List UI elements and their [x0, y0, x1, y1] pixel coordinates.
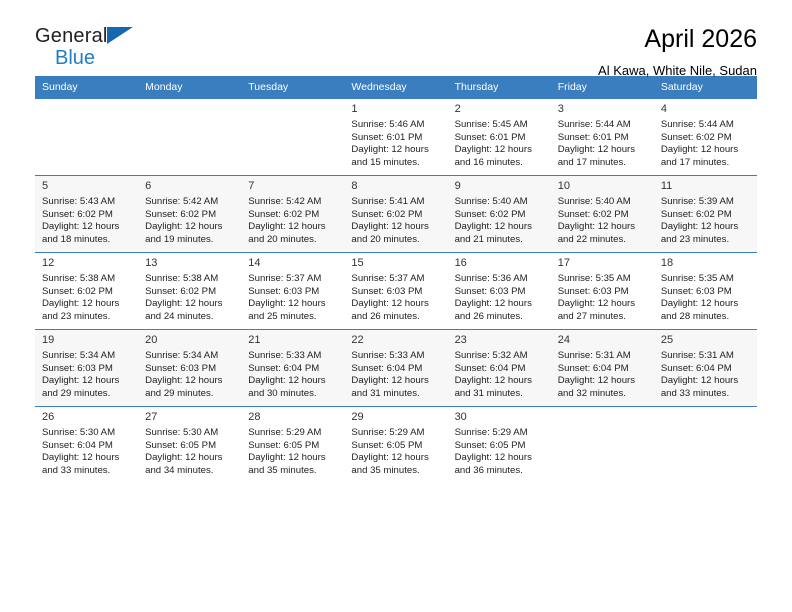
- day-cell-inner: 23Sunrise: 5:32 AMSunset: 6:04 PMDayligh…: [448, 330, 551, 406]
- day-daylight1-text: Daylight: 12 hours: [661, 144, 750, 157]
- day-daylight2-text: and 26 minutes.: [455, 311, 544, 324]
- day-cell-inner: 24Sunrise: 5:31 AMSunset: 6:04 PMDayligh…: [551, 330, 654, 406]
- day-cell-inner: 8Sunrise: 5:41 AMSunset: 6:02 PMDaylight…: [344, 176, 447, 252]
- day-sunset-text: Sunset: 6:04 PM: [351, 363, 440, 376]
- day-number: 3: [558, 103, 647, 116]
- day-daylight2-text: and 25 minutes.: [248, 311, 337, 324]
- day-detail: Sunrise: 5:38 AMSunset: 6:02 PMDaylight:…: [42, 273, 131, 323]
- day-sunset-text: Sunset: 6:03 PM: [351, 286, 440, 299]
- day-detail: Sunrise: 5:31 AMSunset: 6:04 PMDaylight:…: [661, 350, 750, 400]
- calendar-day-cell[interactable]: 3Sunrise: 5:44 AMSunset: 6:01 PMDaylight…: [551, 99, 654, 176]
- day-number: 28: [248, 411, 337, 424]
- day-sunset-text: Sunset: 6:01 PM: [558, 132, 647, 145]
- day-detail: Sunrise: 5:33 AMSunset: 6:04 PMDaylight:…: [351, 350, 440, 400]
- day-daylight1-text: Daylight: 12 hours: [351, 298, 440, 311]
- day-sunset-text: Sunset: 6:04 PM: [248, 363, 337, 376]
- day-sunset-text: Sunset: 6:02 PM: [455, 209, 544, 222]
- day-daylight2-text: and 16 minutes.: [455, 157, 544, 170]
- day-detail: Sunrise: 5:42 AMSunset: 6:02 PMDaylight:…: [145, 196, 234, 246]
- day-sunset-text: Sunset: 6:05 PM: [351, 440, 440, 453]
- day-detail: Sunrise: 5:29 AMSunset: 6:05 PMDaylight:…: [455, 427, 544, 477]
- day-number: 1: [351, 103, 440, 116]
- day-sunset-text: Sunset: 6:02 PM: [42, 209, 131, 222]
- calendar-page: General Blue April 2026 Al Kawa, White N…: [0, 0, 792, 612]
- day-sunset-text: Sunset: 6:02 PM: [145, 286, 234, 299]
- calendar-day-cell[interactable]: 30Sunrise: 5:29 AMSunset: 6:05 PMDayligh…: [448, 407, 551, 484]
- day-cell-inner: 9Sunrise: 5:40 AMSunset: 6:02 PMDaylight…: [448, 176, 551, 252]
- calendar-day-cell[interactable]: 9Sunrise: 5:40 AMSunset: 6:02 PMDaylight…: [448, 176, 551, 253]
- day-sunrise-text: Sunrise: 5:36 AM: [455, 273, 544, 286]
- day-detail: Sunrise: 5:37 AMSunset: 6:03 PMDaylight:…: [248, 273, 337, 323]
- day-daylight2-text: and 17 minutes.: [558, 157, 647, 170]
- day-sunset-text: Sunset: 6:04 PM: [558, 363, 647, 376]
- day-daylight2-text: and 20 minutes.: [248, 234, 337, 247]
- day-daylight1-text: Daylight: 12 hours: [455, 375, 544, 388]
- day-daylight2-text: and 31 minutes.: [455, 388, 544, 401]
- day-cell-inner: 18Sunrise: 5:35 AMSunset: 6:03 PMDayligh…: [654, 253, 757, 329]
- day-number: 9: [455, 180, 544, 193]
- day-number: 21: [248, 334, 337, 347]
- day-sunrise-text: Sunrise: 5:34 AM: [145, 350, 234, 363]
- day-daylight1-text: Daylight: 12 hours: [455, 144, 544, 157]
- day-detail: Sunrise: 5:38 AMSunset: 6:02 PMDaylight:…: [145, 273, 234, 323]
- day-daylight2-text: and 35 minutes.: [248, 465, 337, 478]
- day-detail: Sunrise: 5:35 AMSunset: 6:03 PMDaylight:…: [661, 273, 750, 323]
- day-daylight1-text: Daylight: 12 hours: [42, 298, 131, 311]
- day-detail: Sunrise: 5:30 AMSunset: 6:04 PMDaylight:…: [42, 427, 131, 477]
- day-detail: Sunrise: 5:33 AMSunset: 6:04 PMDaylight:…: [248, 350, 337, 400]
- day-sunrise-text: Sunrise: 5:42 AM: [248, 196, 337, 209]
- day-cell-inner: 26Sunrise: 5:30 AMSunset: 6:04 PMDayligh…: [35, 407, 138, 483]
- day-number: 18: [661, 257, 750, 270]
- day-daylight1-text: Daylight: 12 hours: [42, 452, 131, 465]
- calendar-week-row: 26Sunrise: 5:30 AMSunset: 6:04 PMDayligh…: [35, 407, 757, 484]
- day-cell-inner: 17Sunrise: 5:35 AMSunset: 6:03 PMDayligh…: [551, 253, 654, 329]
- day-number: 15: [351, 257, 440, 270]
- day-sunset-text: Sunset: 6:02 PM: [145, 209, 234, 222]
- day-sunset-text: Sunset: 6:04 PM: [42, 440, 131, 453]
- day-cell-inner: 1Sunrise: 5:46 AMSunset: 6:01 PMDaylight…: [344, 99, 447, 175]
- day-sunset-text: Sunset: 6:02 PM: [661, 209, 750, 222]
- day-cell-inner: 25Sunrise: 5:31 AMSunset: 6:04 PMDayligh…: [654, 330, 757, 406]
- day-detail: Sunrise: 5:40 AMSunset: 6:02 PMDaylight:…: [558, 196, 647, 246]
- calendar-day-cell[interactable]: 26Sunrise: 5:30 AMSunset: 6:04 PMDayligh…: [35, 407, 138, 484]
- day-daylight2-text: and 35 minutes.: [351, 465, 440, 478]
- day-daylight1-text: Daylight: 12 hours: [455, 221, 544, 234]
- day-daylight1-text: Daylight: 12 hours: [145, 298, 234, 311]
- day-cell-inner: 28Sunrise: 5:29 AMSunset: 6:05 PMDayligh…: [241, 407, 344, 483]
- brand-logo[interactable]: General Blue: [35, 26, 145, 74]
- day-sunset-text: Sunset: 6:03 PM: [248, 286, 337, 299]
- day-sunrise-text: Sunrise: 5:33 AM: [351, 350, 440, 363]
- day-daylight1-text: Daylight: 12 hours: [455, 452, 544, 465]
- day-detail: Sunrise: 5:40 AMSunset: 6:02 PMDaylight:…: [455, 196, 544, 246]
- day-sunset-text: Sunset: 6:02 PM: [42, 286, 131, 299]
- day-daylight2-text: and 15 minutes.: [351, 157, 440, 170]
- calendar-day-cell[interactable]: 16Sunrise: 5:36 AMSunset: 6:03 PMDayligh…: [448, 253, 551, 330]
- day-sunrise-text: Sunrise: 5:42 AM: [145, 196, 234, 209]
- day-sunset-text: Sunset: 6:05 PM: [248, 440, 337, 453]
- day-cell-inner: 14Sunrise: 5:37 AMSunset: 6:03 PMDayligh…: [241, 253, 344, 329]
- weekday-header-wednesday: Wednesday: [344, 76, 447, 99]
- day-detail: Sunrise: 5:37 AMSunset: 6:03 PMDaylight:…: [351, 273, 440, 323]
- calendar-day-cell[interactable]: 28Sunrise: 5:29 AMSunset: 6:05 PMDayligh…: [241, 407, 344, 484]
- day-daylight1-text: Daylight: 12 hours: [248, 298, 337, 311]
- day-number: 2: [455, 103, 544, 116]
- calendar-week-row: 1Sunrise: 5:46 AMSunset: 6:01 PMDaylight…: [35, 99, 757, 176]
- calendar-cell-empty: [138, 99, 241, 176]
- day-sunset-text: Sunset: 6:02 PM: [558, 209, 647, 222]
- day-sunset-text: Sunset: 6:01 PM: [351, 132, 440, 145]
- day-sunrise-text: Sunrise: 5:41 AM: [351, 196, 440, 209]
- day-sunrise-text: Sunrise: 5:44 AM: [661, 119, 750, 132]
- calendar-day-cell[interactable]: 23Sunrise: 5:32 AMSunset: 6:04 PMDayligh…: [448, 330, 551, 407]
- day-daylight1-text: Daylight: 12 hours: [558, 221, 647, 234]
- day-number: 20: [145, 334, 234, 347]
- day-cell-inner: 27Sunrise: 5:30 AMSunset: 6:05 PMDayligh…: [138, 407, 241, 483]
- day-cell-inner: 4Sunrise: 5:44 AMSunset: 6:02 PMDaylight…: [654, 99, 757, 175]
- calendar-day-cell[interactable]: 1Sunrise: 5:46 AMSunset: 6:01 PMDaylight…: [344, 99, 447, 176]
- day-cell-inner: 15Sunrise: 5:37 AMSunset: 6:03 PMDayligh…: [344, 253, 447, 329]
- day-sunrise-text: Sunrise: 5:31 AM: [558, 350, 647, 363]
- calendar-day-cell[interactable]: 13Sunrise: 5:38 AMSunset: 6:02 PMDayligh…: [138, 253, 241, 330]
- day-cell-inner: 10Sunrise: 5:40 AMSunset: 6:02 PMDayligh…: [551, 176, 654, 252]
- day-detail: Sunrise: 5:44 AMSunset: 6:02 PMDaylight:…: [661, 119, 750, 169]
- day-daylight2-text: and 26 minutes.: [351, 311, 440, 324]
- day-cell-inner: 20Sunrise: 5:34 AMSunset: 6:03 PMDayligh…: [138, 330, 241, 406]
- day-daylight1-text: Daylight: 12 hours: [42, 375, 131, 388]
- day-daylight2-text: and 33 minutes.: [42, 465, 131, 478]
- calendar-day-cell[interactable]: 27Sunrise: 5:30 AMSunset: 6:05 PMDayligh…: [138, 407, 241, 484]
- day-sunrise-text: Sunrise: 5:31 AM: [661, 350, 750, 363]
- day-daylight2-text: and 36 minutes.: [455, 465, 544, 478]
- calendar-day-cell[interactable]: 19Sunrise: 5:34 AMSunset: 6:03 PMDayligh…: [35, 330, 138, 407]
- day-daylight2-text: and 29 minutes.: [145, 388, 234, 401]
- day-cell-inner: 21Sunrise: 5:33 AMSunset: 6:04 PMDayligh…: [241, 330, 344, 406]
- day-number: 13: [145, 257, 234, 270]
- day-number: 17: [558, 257, 647, 270]
- day-daylight1-text: Daylight: 12 hours: [145, 221, 234, 234]
- day-daylight2-text: and 22 minutes.: [558, 234, 647, 247]
- day-cell-inner: [551, 407, 654, 483]
- day-cell-inner: [35, 99, 138, 175]
- day-cell-inner: 19Sunrise: 5:34 AMSunset: 6:03 PMDayligh…: [35, 330, 138, 406]
- calendar-day-cell[interactable]: 8Sunrise: 5:41 AMSunset: 6:02 PMDaylight…: [344, 176, 447, 253]
- day-sunset-text: Sunset: 6:03 PM: [145, 363, 234, 376]
- day-detail: Sunrise: 5:34 AMSunset: 6:03 PMDaylight:…: [42, 350, 131, 400]
- weekday-header-monday: Monday: [138, 76, 241, 99]
- calendar-cell-empty: [654, 407, 757, 484]
- day-detail: Sunrise: 5:31 AMSunset: 6:04 PMDaylight:…: [558, 350, 647, 400]
- day-daylight2-text: and 34 minutes.: [145, 465, 234, 478]
- day-number: 25: [661, 334, 750, 347]
- day-detail: Sunrise: 5:46 AMSunset: 6:01 PMDaylight:…: [351, 119, 440, 169]
- day-number: 24: [558, 334, 647, 347]
- day-number: 4: [661, 103, 750, 116]
- day-daylight1-text: Daylight: 12 hours: [558, 375, 647, 388]
- calendar-cell-empty: [35, 99, 138, 176]
- page-header: General Blue April 2026 Al Kawa, White N…: [35, 0, 757, 72]
- day-sunrise-text: Sunrise: 5:39 AM: [661, 196, 750, 209]
- day-daylight1-text: Daylight: 12 hours: [248, 452, 337, 465]
- day-daylight2-text: and 29 minutes.: [42, 388, 131, 401]
- day-sunset-text: Sunset: 6:05 PM: [145, 440, 234, 453]
- day-sunrise-text: Sunrise: 5:35 AM: [558, 273, 647, 286]
- day-number: 16: [455, 257, 544, 270]
- day-sunrise-text: Sunrise: 5:29 AM: [455, 427, 544, 440]
- day-cell-inner: 11Sunrise: 5:39 AMSunset: 6:02 PMDayligh…: [654, 176, 757, 252]
- day-detail: Sunrise: 5:42 AMSunset: 6:02 PMDaylight:…: [248, 196, 337, 246]
- day-detail: Sunrise: 5:30 AMSunset: 6:05 PMDaylight:…: [145, 427, 234, 477]
- day-detail: Sunrise: 5:39 AMSunset: 6:02 PMDaylight:…: [661, 196, 750, 246]
- day-cell-inner: 2Sunrise: 5:45 AMSunset: 6:01 PMDaylight…: [448, 99, 551, 175]
- calendar-day-cell[interactable]: 21Sunrise: 5:33 AMSunset: 6:04 PMDayligh…: [241, 330, 344, 407]
- day-number: 5: [42, 180, 131, 193]
- calendar-day-cell[interactable]: 12Sunrise: 5:38 AMSunset: 6:02 PMDayligh…: [35, 253, 138, 330]
- day-daylight1-text: Daylight: 12 hours: [351, 375, 440, 388]
- day-sunrise-text: Sunrise: 5:33 AM: [248, 350, 337, 363]
- day-detail: Sunrise: 5:34 AMSunset: 6:03 PMDaylight:…: [145, 350, 234, 400]
- day-daylight2-text: and 20 minutes.: [351, 234, 440, 247]
- calendar-day-cell[interactable]: 24Sunrise: 5:31 AMSunset: 6:04 PMDayligh…: [551, 330, 654, 407]
- day-detail: Sunrise: 5:44 AMSunset: 6:01 PMDaylight:…: [558, 119, 647, 169]
- day-daylight1-text: Daylight: 12 hours: [145, 375, 234, 388]
- day-sunrise-text: Sunrise: 5:44 AM: [558, 119, 647, 132]
- day-number: 10: [558, 180, 647, 193]
- day-cell-inner: [241, 99, 344, 175]
- day-number: 29: [351, 411, 440, 424]
- day-daylight2-text: and 24 minutes.: [145, 311, 234, 324]
- day-daylight1-text: Daylight: 12 hours: [351, 452, 440, 465]
- day-daylight2-text: and 28 minutes.: [661, 311, 750, 324]
- calendar-table: SundayMondayTuesdayWednesdayThursdayFrid…: [35, 76, 757, 483]
- day-daylight2-text: and 27 minutes.: [558, 311, 647, 324]
- day-cell-inner: [654, 407, 757, 483]
- day-sunrise-text: Sunrise: 5:30 AM: [145, 427, 234, 440]
- calendar-day-cell[interactable]: 20Sunrise: 5:34 AMSunset: 6:03 PMDayligh…: [138, 330, 241, 407]
- calendar-week-row: 12Sunrise: 5:38 AMSunset: 6:02 PMDayligh…: [35, 253, 757, 330]
- day-sunset-text: Sunset: 6:02 PM: [661, 132, 750, 145]
- day-sunset-text: Sunset: 6:02 PM: [351, 209, 440, 222]
- day-sunrise-text: Sunrise: 5:35 AM: [661, 273, 750, 286]
- calendar-header-row: SundayMondayTuesdayWednesdayThursdayFrid…: [35, 76, 757, 99]
- calendar-cell-empty: [241, 99, 344, 176]
- calendar-day-cell[interactable]: 18Sunrise: 5:35 AMSunset: 6:03 PMDayligh…: [654, 253, 757, 330]
- day-cell-inner: 29Sunrise: 5:29 AMSunset: 6:05 PMDayligh…: [344, 407, 447, 483]
- calendar-day-cell[interactable]: 10Sunrise: 5:40 AMSunset: 6:02 PMDayligh…: [551, 176, 654, 253]
- day-sunrise-text: Sunrise: 5:37 AM: [248, 273, 337, 286]
- day-cell-inner: [138, 99, 241, 175]
- day-daylight2-text: and 17 minutes.: [661, 157, 750, 170]
- title-block: April 2026 Al Kawa, White Nile, Sudan: [598, 26, 757, 78]
- weekday-header-sunday: Sunday: [35, 76, 138, 99]
- day-detail: Sunrise: 5:36 AMSunset: 6:03 PMDaylight:…: [455, 273, 544, 323]
- day-sunrise-text: Sunrise: 5:32 AM: [455, 350, 544, 363]
- day-sunrise-text: Sunrise: 5:40 AM: [455, 196, 544, 209]
- calendar-day-cell[interactable]: 5Sunrise: 5:43 AMSunset: 6:02 PMDaylight…: [35, 176, 138, 253]
- weekday-header-saturday: Saturday: [654, 76, 757, 99]
- day-number: 6: [145, 180, 234, 193]
- day-daylight2-text: and 23 minutes.: [661, 234, 750, 247]
- calendar-day-cell[interactable]: 4Sunrise: 5:44 AMSunset: 6:02 PMDaylight…: [654, 99, 757, 176]
- day-sunrise-text: Sunrise: 5:29 AM: [351, 427, 440, 440]
- day-sunrise-text: Sunrise: 5:38 AM: [42, 273, 131, 286]
- day-cell-inner: 3Sunrise: 5:44 AMSunset: 6:01 PMDaylight…: [551, 99, 654, 175]
- calendar-day-cell[interactable]: 22Sunrise: 5:33 AMSunset: 6:04 PMDayligh…: [344, 330, 447, 407]
- day-daylight1-text: Daylight: 12 hours: [351, 144, 440, 157]
- day-daylight2-text: and 19 minutes.: [145, 234, 234, 247]
- day-sunset-text: Sunset: 6:04 PM: [661, 363, 750, 376]
- day-sunrise-text: Sunrise: 5:30 AM: [42, 427, 131, 440]
- calendar-week-row: 5Sunrise: 5:43 AMSunset: 6:02 PMDaylight…: [35, 176, 757, 253]
- day-number: 8: [351, 180, 440, 193]
- day-daylight1-text: Daylight: 12 hours: [661, 375, 750, 388]
- calendar-day-cell[interactable]: 7Sunrise: 5:42 AMSunset: 6:02 PMDaylight…: [241, 176, 344, 253]
- day-number: 23: [455, 334, 544, 347]
- day-cell-inner: 7Sunrise: 5:42 AMSunset: 6:02 PMDaylight…: [241, 176, 344, 252]
- day-sunset-text: Sunset: 6:03 PM: [558, 286, 647, 299]
- day-sunset-text: Sunset: 6:04 PM: [455, 363, 544, 376]
- day-cell-inner: 22Sunrise: 5:33 AMSunset: 6:04 PMDayligh…: [344, 330, 447, 406]
- day-daylight2-text: and 30 minutes.: [248, 388, 337, 401]
- day-daylight1-text: Daylight: 12 hours: [558, 144, 647, 157]
- day-daylight1-text: Daylight: 12 hours: [248, 221, 337, 234]
- day-sunrise-text: Sunrise: 5:46 AM: [351, 119, 440, 132]
- day-number: 7: [248, 180, 337, 193]
- calendar-day-cell[interactable]: 6Sunrise: 5:42 AMSunset: 6:02 PMDaylight…: [138, 176, 241, 253]
- day-daylight1-text: Daylight: 12 hours: [558, 298, 647, 311]
- page-title: April 2026: [598, 26, 757, 54]
- day-sunset-text: Sunset: 6:03 PM: [661, 286, 750, 299]
- day-detail: Sunrise: 5:35 AMSunset: 6:03 PMDaylight:…: [558, 273, 647, 323]
- day-cell-inner: 12Sunrise: 5:38 AMSunset: 6:02 PMDayligh…: [35, 253, 138, 329]
- calendar-day-cell[interactable]: 25Sunrise: 5:31 AMSunset: 6:04 PMDayligh…: [654, 330, 757, 407]
- day-daylight1-text: Daylight: 12 hours: [455, 298, 544, 311]
- day-daylight1-text: Daylight: 12 hours: [661, 298, 750, 311]
- weekday-header-thursday: Thursday: [448, 76, 551, 99]
- day-daylight1-text: Daylight: 12 hours: [145, 452, 234, 465]
- day-sunrise-text: Sunrise: 5:45 AM: [455, 119, 544, 132]
- calendar-day-cell[interactable]: 11Sunrise: 5:39 AMSunset: 6:02 PMDayligh…: [654, 176, 757, 253]
- weekday-header-tuesday: Tuesday: [241, 76, 344, 99]
- day-number: 26: [42, 411, 131, 424]
- day-daylight1-text: Daylight: 12 hours: [42, 221, 131, 234]
- day-detail: Sunrise: 5:41 AMSunset: 6:02 PMDaylight:…: [351, 196, 440, 246]
- day-detail: Sunrise: 5:45 AMSunset: 6:01 PMDaylight:…: [455, 119, 544, 169]
- day-daylight2-text: and 32 minutes.: [558, 388, 647, 401]
- day-cell-inner: 30Sunrise: 5:29 AMSunset: 6:05 PMDayligh…: [448, 407, 551, 483]
- day-sunrise-text: Sunrise: 5:29 AM: [248, 427, 337, 440]
- calendar-day-cell[interactable]: 2Sunrise: 5:45 AMSunset: 6:01 PMDaylight…: [448, 99, 551, 176]
- day-number: 11: [661, 180, 750, 193]
- day-cell-inner: 6Sunrise: 5:42 AMSunset: 6:02 PMDaylight…: [138, 176, 241, 252]
- calendar-week-row: 19Sunrise: 5:34 AMSunset: 6:03 PMDayligh…: [35, 330, 757, 407]
- calendar-body: 1Sunrise: 5:46 AMSunset: 6:01 PMDaylight…: [35, 99, 757, 484]
- day-daylight2-text: and 33 minutes.: [661, 388, 750, 401]
- triangle-flag-icon: [107, 27, 133, 44]
- day-daylight1-text: Daylight: 12 hours: [351, 221, 440, 234]
- day-number: 19: [42, 334, 131, 347]
- day-detail: Sunrise: 5:32 AMSunset: 6:04 PMDaylight:…: [455, 350, 544, 400]
- day-sunset-text: Sunset: 6:03 PM: [42, 363, 131, 376]
- page-subtitle: Al Kawa, White Nile, Sudan: [598, 63, 757, 78]
- day-number: 14: [248, 257, 337, 270]
- day-cell-inner: 16Sunrise: 5:36 AMSunset: 6:03 PMDayligh…: [448, 253, 551, 329]
- day-daylight1-text: Daylight: 12 hours: [661, 221, 750, 234]
- day-daylight2-text: and 21 minutes.: [455, 234, 544, 247]
- day-sunrise-text: Sunrise: 5:40 AM: [558, 196, 647, 209]
- day-sunset-text: Sunset: 6:01 PM: [455, 132, 544, 145]
- day-detail: Sunrise: 5:43 AMSunset: 6:02 PMDaylight:…: [42, 196, 131, 246]
- day-cell-inner: 5Sunrise: 5:43 AMSunset: 6:02 PMDaylight…: [35, 176, 138, 252]
- day-number: 27: [145, 411, 234, 424]
- day-sunrise-text: Sunrise: 5:38 AM: [145, 273, 234, 286]
- day-sunrise-text: Sunrise: 5:34 AM: [42, 350, 131, 363]
- calendar-day-cell[interactable]: 17Sunrise: 5:35 AMSunset: 6:03 PMDayligh…: [551, 253, 654, 330]
- day-number: 30: [455, 411, 544, 424]
- day-daylight2-text: and 23 minutes.: [42, 311, 131, 324]
- calendar-day-cell[interactable]: 29Sunrise: 5:29 AMSunset: 6:05 PMDayligh…: [344, 407, 447, 484]
- calendar-day-cell[interactable]: 14Sunrise: 5:37 AMSunset: 6:03 PMDayligh…: [241, 253, 344, 330]
- day-sunset-text: Sunset: 6:05 PM: [455, 440, 544, 453]
- day-daylight2-text: and 31 minutes.: [351, 388, 440, 401]
- day-daylight2-text: and 18 minutes.: [42, 234, 131, 247]
- day-sunrise-text: Sunrise: 5:43 AM: [42, 196, 131, 209]
- day-number: 12: [42, 257, 131, 270]
- day-detail: Sunrise: 5:29 AMSunset: 6:05 PMDaylight:…: [351, 427, 440, 477]
- brand-name-blue: Blue: [55, 48, 145, 68]
- day-sunset-text: Sunset: 6:03 PM: [455, 286, 544, 299]
- weekday-header-friday: Friday: [551, 76, 654, 99]
- calendar-day-cell[interactable]: 15Sunrise: 5:37 AMSunset: 6:03 PMDayligh…: [344, 253, 447, 330]
- day-detail: Sunrise: 5:29 AMSunset: 6:05 PMDaylight:…: [248, 427, 337, 477]
- day-daylight1-text: Daylight: 12 hours: [248, 375, 337, 388]
- day-cell-inner: 13Sunrise: 5:38 AMSunset: 6:02 PMDayligh…: [138, 253, 241, 329]
- calendar-cell-empty: [551, 407, 654, 484]
- day-sunset-text: Sunset: 6:02 PM: [248, 209, 337, 222]
- day-number: 22: [351, 334, 440, 347]
- day-sunrise-text: Sunrise: 5:37 AM: [351, 273, 440, 286]
